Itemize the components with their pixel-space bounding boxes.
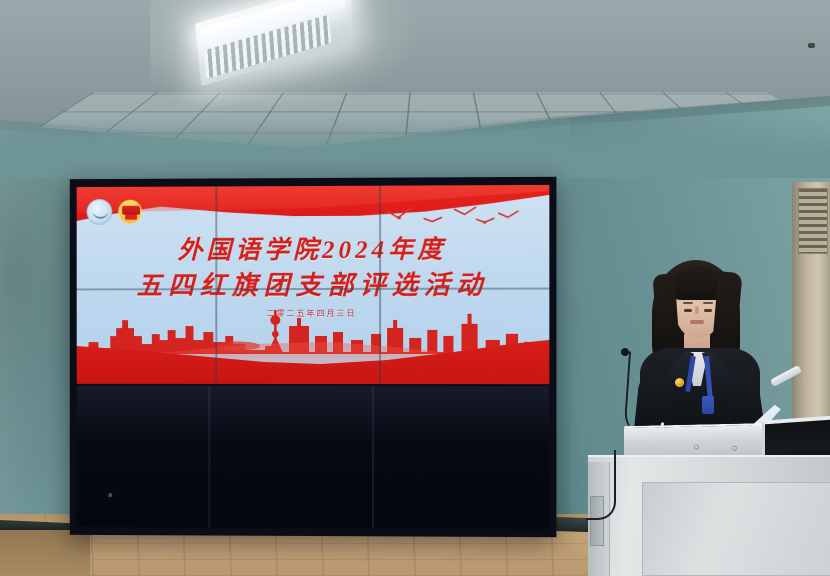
wall-mark [808,43,815,48]
podium-front-panel [642,482,830,576]
flying-birds-icon [380,195,531,236]
lapel-pin-icon [675,378,684,387]
presenter-nose [695,306,699,314]
podium-cable [586,450,616,520]
panel-seam-lower-2 [372,386,374,528]
presenter-brow-left [683,302,693,304]
video-wall-lower-panels [77,386,550,529]
slide-logos [87,199,142,225]
presenter-badge [702,396,714,414]
presenter-eye-right [704,309,712,312]
panel-indicator-led [108,493,112,497]
panel-seam-lower-1 [208,386,209,528]
podium-screw-2 [732,446,737,451]
video-wall-display[interactable]: 外国语学院2024年度 五四红旗团支部评选活动 二零二五年四月三日 [70,177,557,537]
conference-room-photo: 外国语学院2024年度 五四红旗团支部评选活动 二零二五年四月三日 [0,0,830,576]
communist-youth-league-emblem-icon [118,200,142,224]
ceiling-fade [0,118,830,178]
panel-seam-vertical-1 [215,186,216,383]
presenter-eye-left [684,309,692,312]
video-wall-active-screen[interactable]: 外国语学院2024年度 五四红旗团支部评选活动 二零二五年四月三日 [77,185,550,384]
presenter-mouth [690,320,704,324]
vent-grille-icon [798,188,828,254]
university-emblem-icon [87,199,113,225]
presenter-brow-right [703,302,713,304]
panel-seam-vertical-2 [379,186,381,384]
slide-title-line-2: 五四红旗团支部评选活动 [77,267,550,304]
podium-screw-1 [694,445,699,450]
slide-title-line-1: 外国语学院2024年度 [77,233,550,268]
